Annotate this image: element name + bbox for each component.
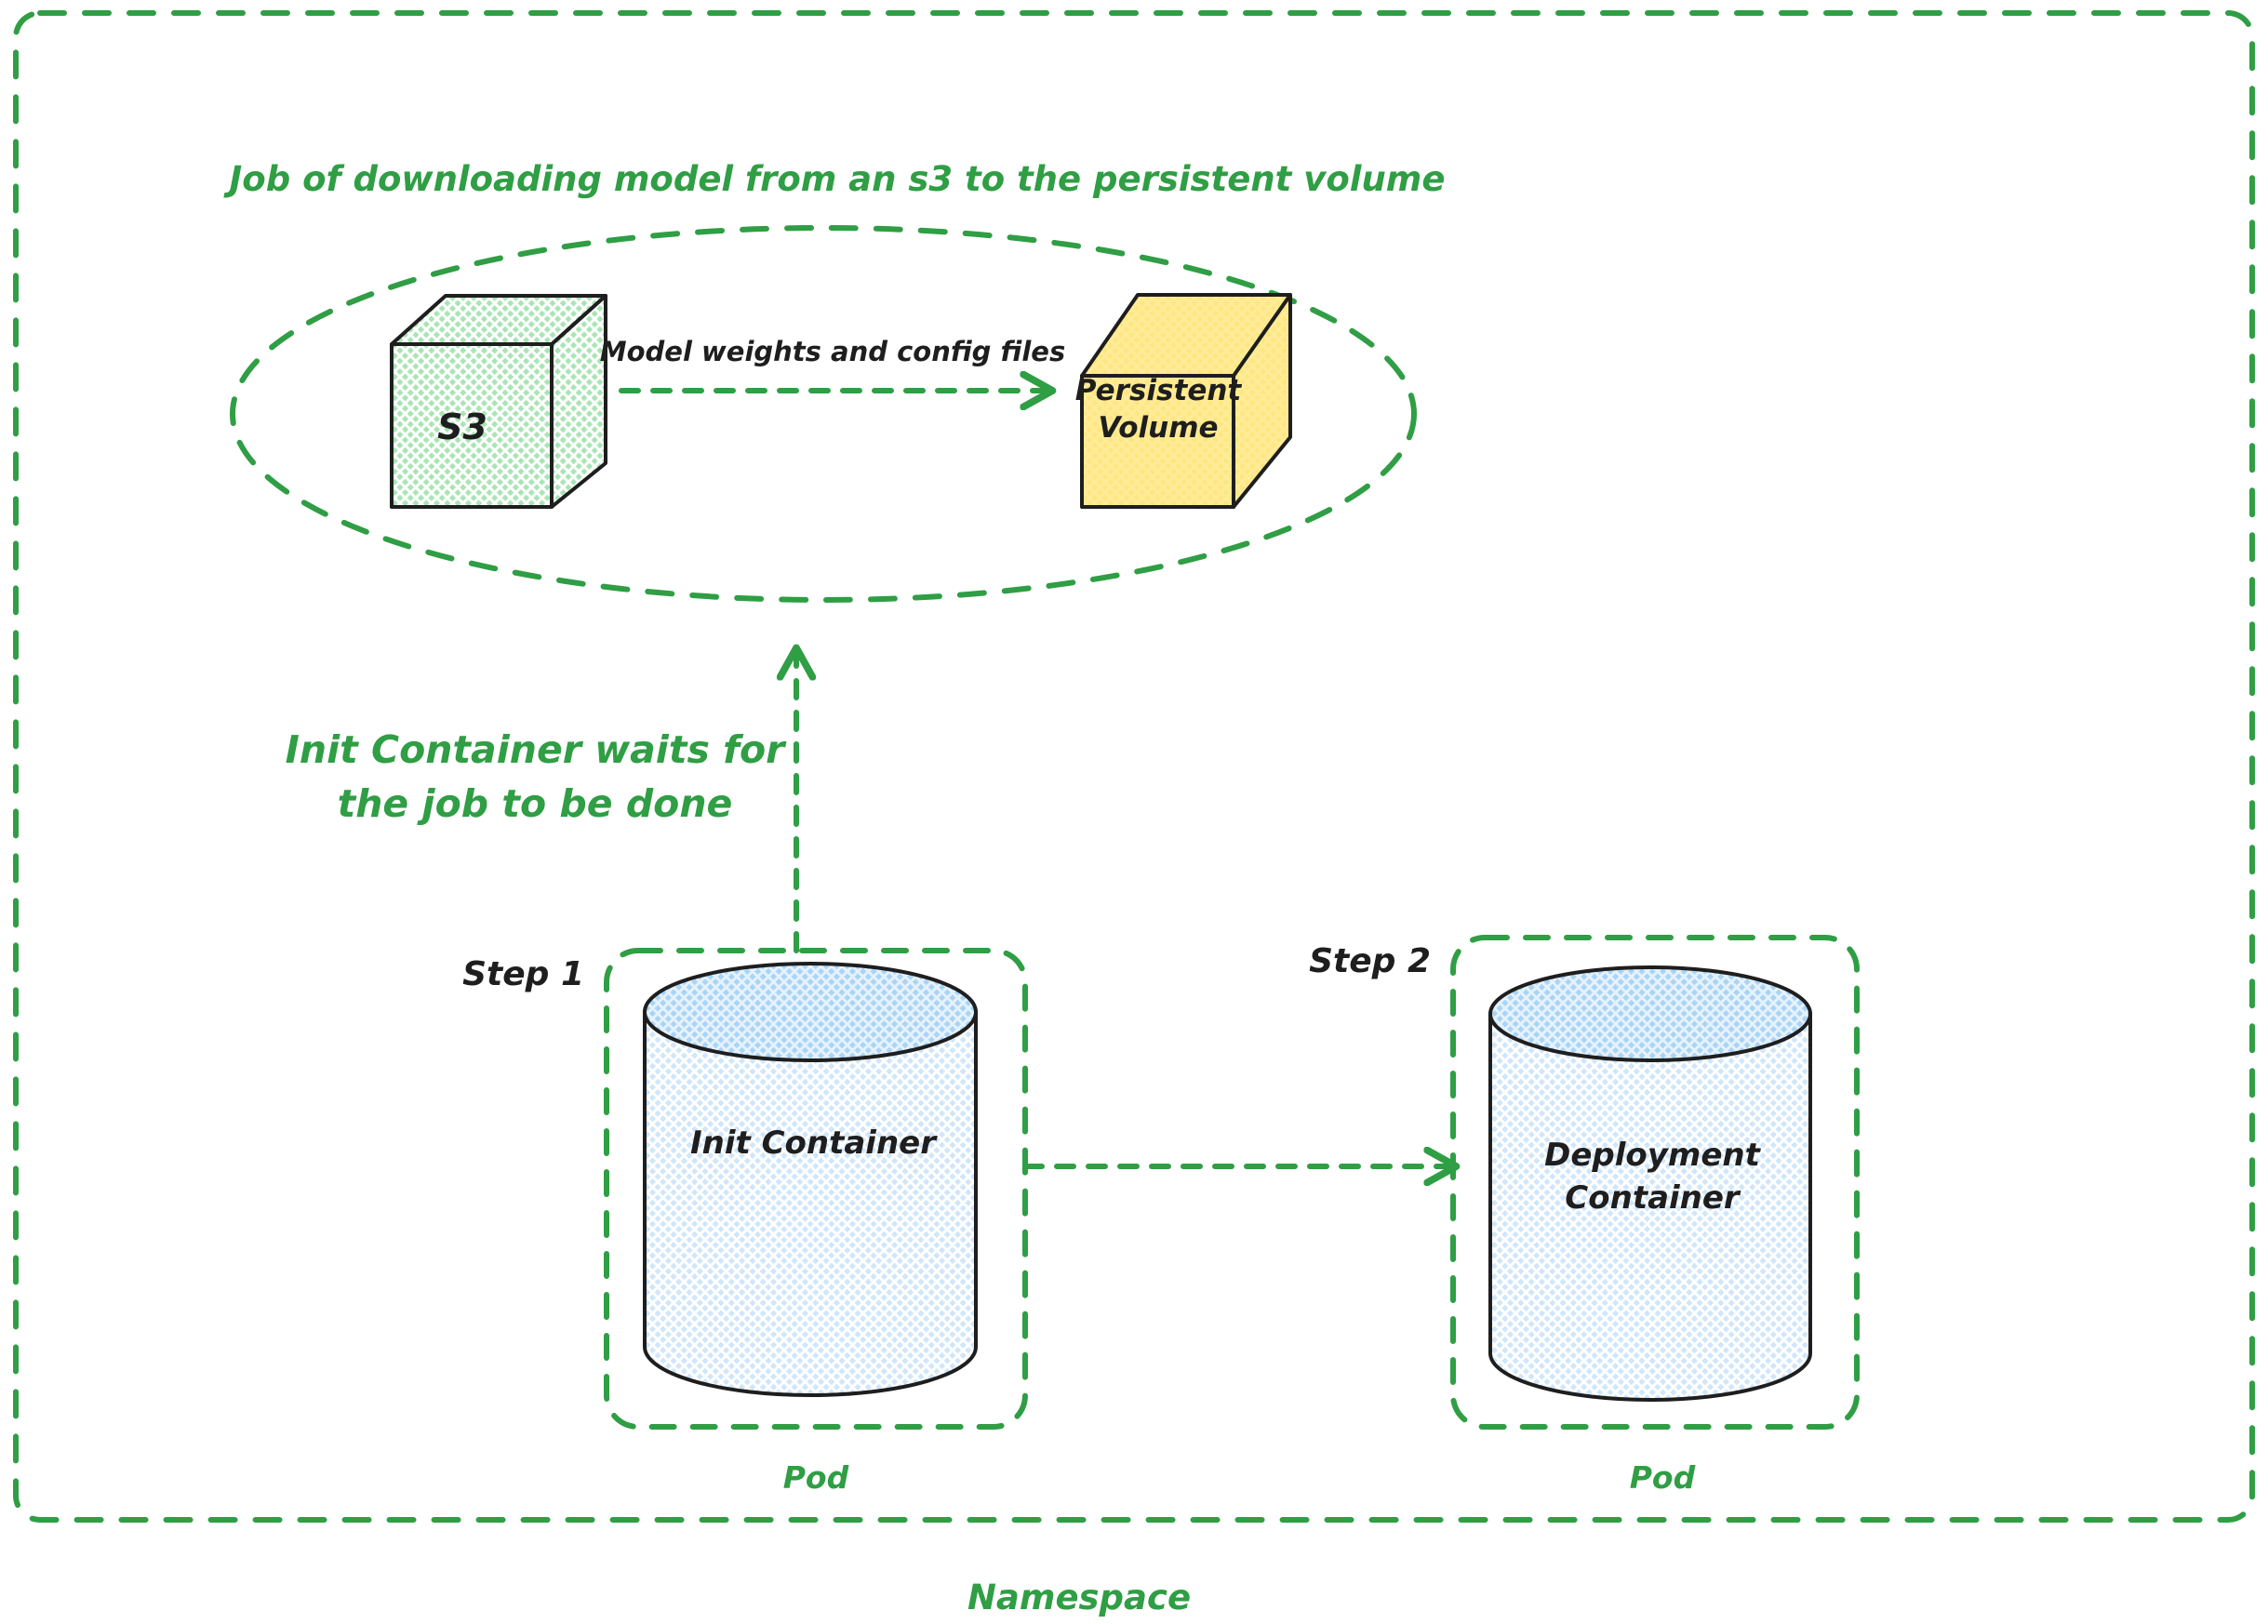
pod-2-step-label: Step 2 — [1309, 942, 1431, 980]
deployment-container-label-line1: Deployment — [1544, 1137, 1761, 1174]
pod-1-step-label: Step 1 — [462, 955, 584, 993]
deployment-container-cylinder: Deployment Container — [1490, 967, 1810, 1400]
persistent-volume-label-line2: Volume — [1098, 411, 1218, 445]
init-container-label: Init Container — [690, 1125, 938, 1162]
persistent-volume-cube: Persistent Volume — [1075, 295, 1290, 507]
wait-note-line2: the job to be done — [338, 781, 733, 826]
deployment-container-label-line2: Container — [1565, 1179, 1741, 1217]
pod-2-label: Pod — [1630, 1459, 1696, 1496]
s3-cube: S3 — [392, 296, 606, 507]
job-group-title: Job of downloading model from an s3 to t… — [223, 159, 1446, 199]
namespace-label: Namespace — [967, 1577, 1191, 1617]
pod-1-label: Pod — [783, 1459, 849, 1496]
wait-note-line1: Init Container waits for — [286, 727, 788, 772]
diagram-canvas: S3 Model weights and config files Persis… — [0, 0, 2268, 1624]
s3-cube-label: S3 — [437, 406, 487, 447]
persistent-volume-label-line1: Persistent — [1075, 374, 1243, 407]
init-container-cylinder: Init Container — [645, 964, 976, 1395]
diagram-svg: S3 Model weights and config files Persis… — [0, 0, 2268, 1624]
model-transfer-label: Model weights and config files — [600, 336, 1065, 367]
